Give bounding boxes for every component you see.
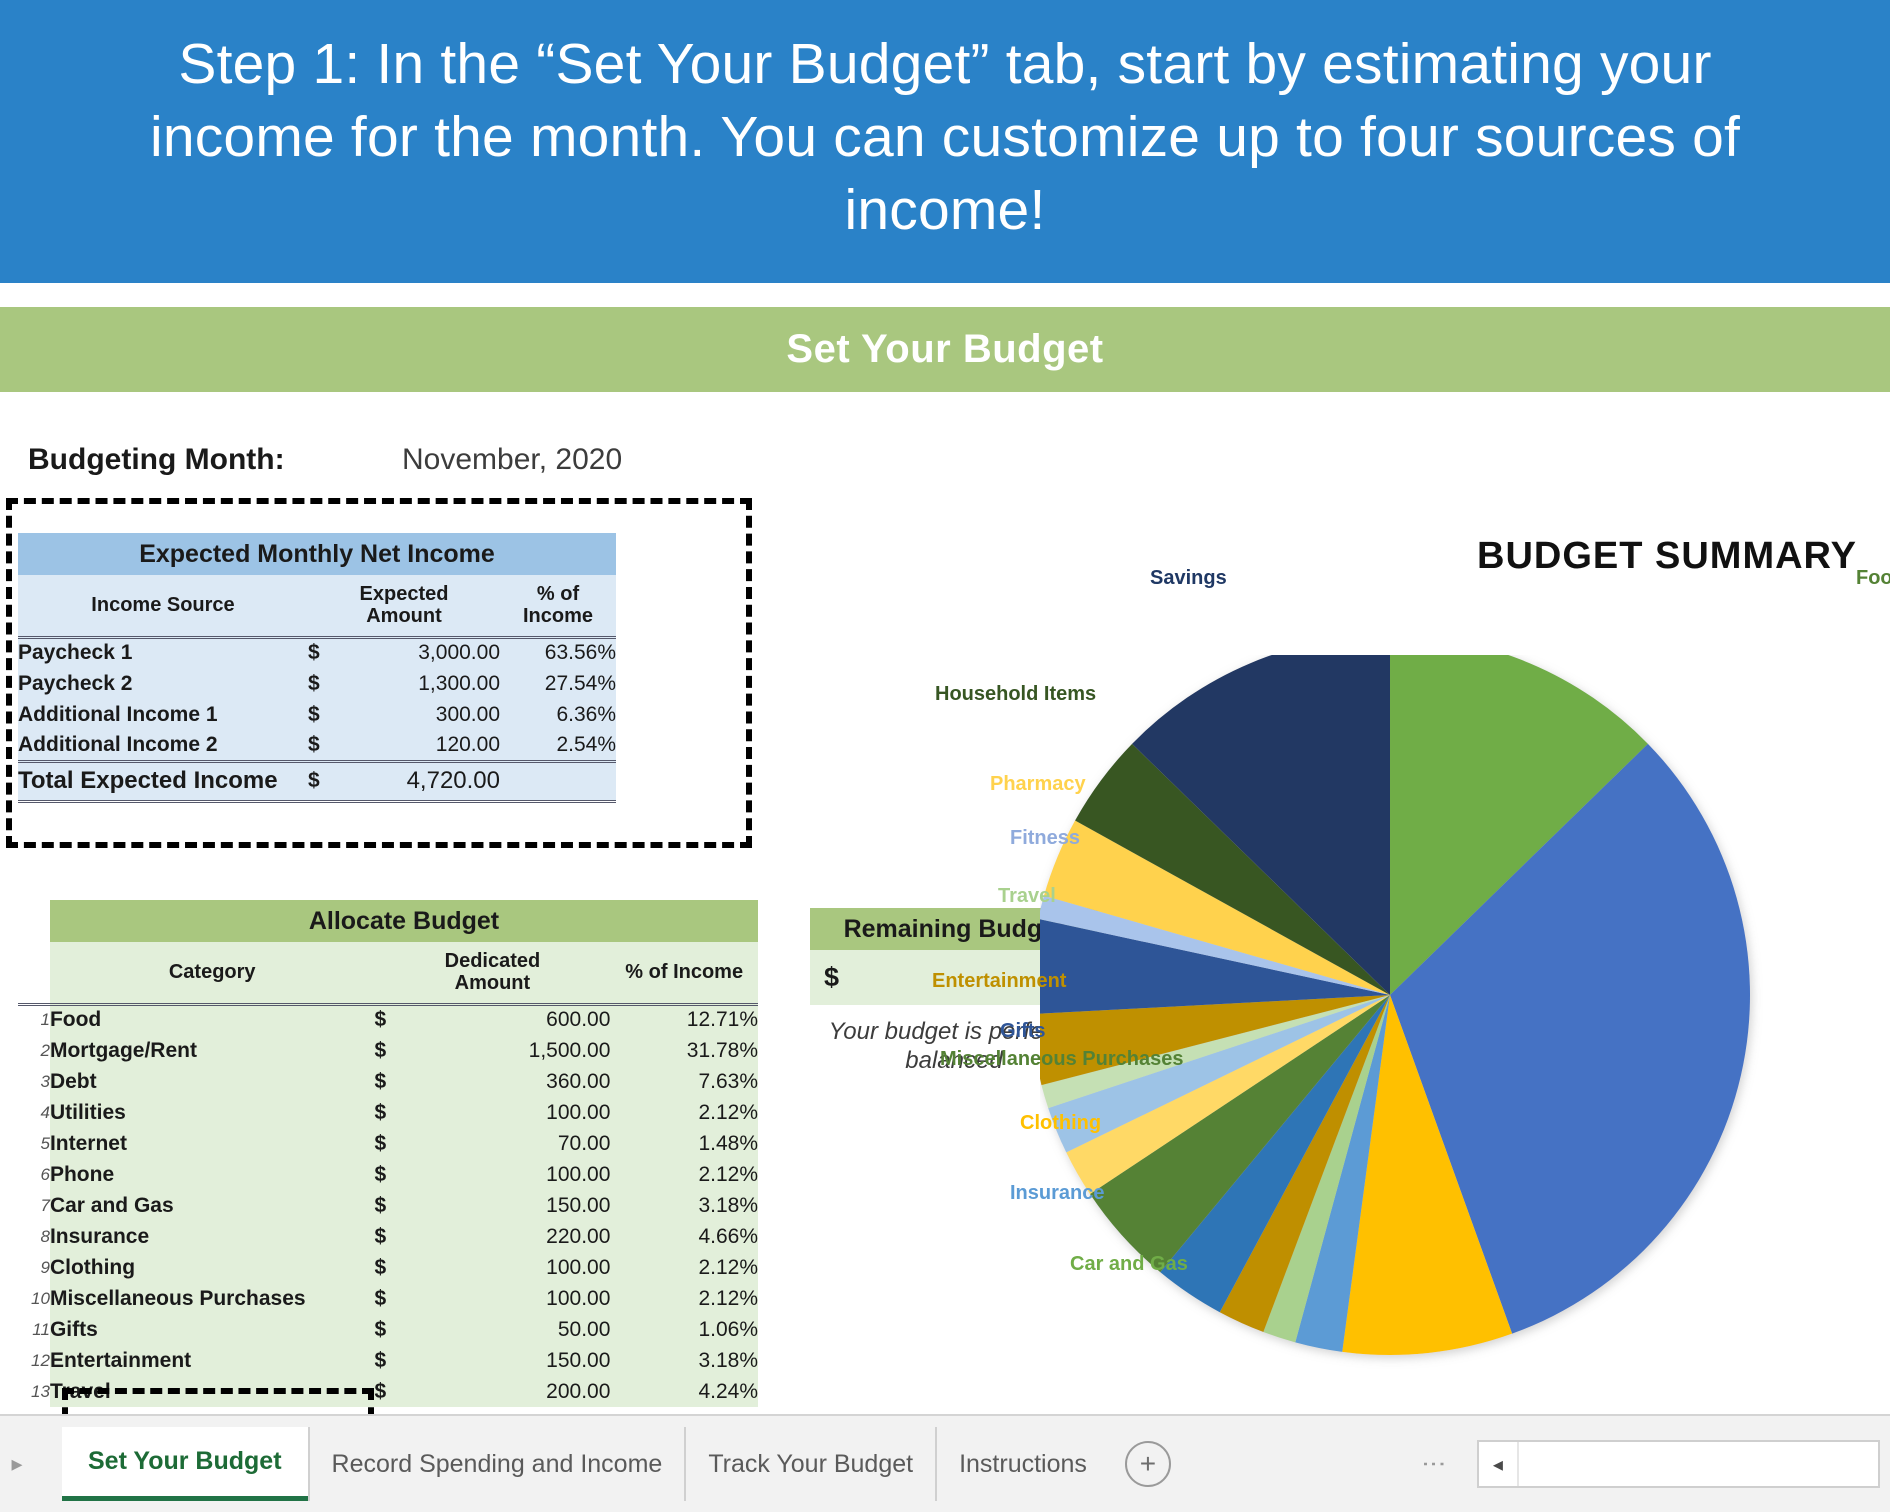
alloc-row-currency: $ — [374, 1035, 426, 1066]
income-table-title-row: Expected Monthly Net Income — [18, 533, 616, 575]
alloc-row-pct: 3.18% — [610, 1190, 758, 1221]
sheet-title-bar: Set Your Budget — [0, 307, 1890, 392]
income-row-amount[interactable]: 300.00 — [350, 699, 500, 730]
alloc-row-currency: $ — [374, 1097, 426, 1128]
row-number: 11 — [18, 1314, 50, 1345]
income-row-currency: $ — [308, 637, 350, 668]
row-number: 8 — [18, 1221, 50, 1252]
allocate-budget-table: Allocate Budget Category Dedicated Amoun… — [18, 900, 758, 1407]
pie-label-car-and-gas: Car and Gas — [1070, 1253, 1188, 1276]
income-row-amount[interactable]: 1,300.00 — [350, 668, 500, 699]
alloc-row-category[interactable]: Food — [50, 1004, 374, 1035]
scroll-left-icon[interactable]: ◂ — [1479, 1442, 1519, 1486]
alloc-row-amount[interactable]: 150.00 — [426, 1345, 610, 1376]
alloc-row-category[interactable]: Miscellaneous Purchases — [50, 1283, 374, 1314]
table-row[interactable]: 10 Miscellaneous Purchases $ 100.00 2.12… — [18, 1283, 758, 1314]
income-total-label: Total Expected Income — [18, 761, 308, 801]
income-row-name: Paycheck 2 — [18, 668, 308, 699]
income-row-amount[interactable]: 120.00 — [350, 730, 500, 761]
alloc-row-amount[interactable]: 360.00 — [426, 1066, 610, 1097]
alloc-row-pct: 12.71% — [610, 1004, 758, 1035]
row-number: 6 — [18, 1159, 50, 1190]
pie-label-insurance: Insurance — [1010, 1182, 1104, 1205]
alloc-rownum-spacer — [18, 942, 50, 1004]
alloc-row-amount[interactable]: 50.00 — [426, 1314, 610, 1345]
income-row-pct: 2.54% — [500, 730, 616, 761]
alloc-row-pct: 2.12% — [610, 1283, 758, 1314]
income-header-pct: % of Income — [500, 575, 616, 637]
pie-label-savings: Savings — [1150, 567, 1227, 590]
alloc-table-header-row: Category Dedicated Amount % of Income — [18, 942, 758, 1004]
sheet-tab-set-your-budget[interactable]: Set Your Budget — [62, 1427, 308, 1501]
alloc-row-currency: $ — [374, 1376, 426, 1407]
pie-label-miscellaneous-purchases: Miscellaneous Purchases — [940, 1048, 1100, 1071]
alloc-row-pct: 1.48% — [610, 1128, 758, 1159]
alloc-row-pct: 2.12% — [610, 1097, 758, 1128]
sheet-tab-instructions[interactable]: Instructions — [935, 1427, 1109, 1501]
row-number: 3 — [18, 1066, 50, 1097]
alloc-rownum-spacer — [18, 900, 50, 942]
alloc-row-amount[interactable]: 200.00 — [426, 1376, 610, 1407]
pie-label-pharmacy: Pharmacy — [990, 773, 1086, 796]
income-row-name: Additional Income 1 — [18, 699, 308, 730]
table-row[interactable]: 7 Car and Gas $ 150.00 3.18% — [18, 1190, 758, 1221]
sheet-tab-bar: ▸ Set Your Budget Record Spending and In… — [0, 1414, 1890, 1512]
table-row[interactable]: 13 Travel $ 200.00 4.24% — [18, 1376, 758, 1407]
alloc-row-currency: $ — [374, 1283, 426, 1314]
tab-scroll-right-icon[interactable]: ▸ — [0, 1451, 34, 1477]
alloc-row-amount[interactable]: 100.00 — [426, 1283, 610, 1314]
budget-summary-title: BUDGET SUMMARY — [1477, 535, 1857, 578]
table-row[interactable]: 11 Gifts $ 50.00 1.06% — [18, 1314, 758, 1345]
table-row[interactable]: 3 Debt $ 360.00 7.63% — [18, 1066, 758, 1097]
alloc-row-amount[interactable]: 100.00 — [426, 1252, 610, 1283]
alloc-table-title-row: Allocate Budget — [18, 900, 758, 942]
alloc-row-pct: 4.24% — [610, 1376, 758, 1407]
alloc-row-pct: 7.63% — [610, 1066, 758, 1097]
income-header-amount-line1: Expected — [360, 583, 449, 605]
income-total-pct — [500, 761, 616, 801]
remaining-budget-currency: $ — [824, 962, 839, 993]
alloc-header-amount-line1: Dedicated — [445, 950, 541, 972]
alloc-row-currency: $ — [374, 1190, 426, 1221]
alloc-row-category[interactable]: Debt — [50, 1066, 374, 1097]
table-row[interactable]: 5 Internet $ 70.00 1.48% — [18, 1128, 758, 1159]
alloc-row-pct: 2.12% — [610, 1159, 758, 1190]
alloc-row-amount[interactable]: 100.00 — [426, 1097, 610, 1128]
alloc-row-amount[interactable]: 220.00 — [426, 1221, 610, 1252]
row-number: 12 — [18, 1345, 50, 1376]
row-number: 4 — [18, 1097, 50, 1128]
alloc-row-category[interactable]: Car and Gas — [50, 1190, 374, 1221]
alloc-row-amount[interactable]: 100.00 — [426, 1159, 610, 1190]
income-total-currency: $ — [308, 761, 350, 801]
alloc-row-pct: 4.66% — [610, 1221, 758, 1252]
alloc-header-pct: % of Income — [610, 942, 758, 1004]
alloc-row-amount[interactable]: 600.00 — [426, 1004, 610, 1035]
table-row[interactable]: 9 Clothing $ 100.00 2.12% — [18, 1252, 758, 1283]
horizontal-scrollbar[interactable]: ◂ — [1477, 1440, 1880, 1488]
alloc-row-amount[interactable]: 70.00 — [426, 1128, 610, 1159]
sheet-tab-record-spending-and-income[interactable]: Record Spending and Income — [308, 1427, 685, 1501]
alloc-row-pct: 3.18% — [610, 1345, 758, 1376]
table-row[interactable]: Additional Income 1 $ 300.00 6.36% — [18, 699, 616, 730]
pie-label-fitness: Fitness — [1010, 827, 1080, 850]
income-header-source: Income Source — [18, 575, 308, 637]
row-number: 13 — [18, 1376, 50, 1407]
table-row[interactable]: 12 Entertainment $ 150.00 3.18% — [18, 1345, 758, 1376]
alloc-row-category[interactable]: Phone — [50, 1159, 374, 1190]
table-row[interactable]: 2 Mortgage/Rent $ 1,500.00 31.78% — [18, 1035, 758, 1066]
alloc-row-category[interactable]: Clothing — [50, 1252, 374, 1283]
budgeting-month-value[interactable]: November, 2020 — [402, 443, 622, 477]
row-number: 7 — [18, 1190, 50, 1221]
alloc-table-title: Allocate Budget — [50, 900, 758, 942]
alloc-row-pct: 2.12% — [610, 1252, 758, 1283]
budgeting-month-label: Budgeting Month: — [28, 443, 285, 477]
table-row[interactable]: Additional Income 2 $ 120.00 2.54% — [18, 730, 616, 761]
table-row[interactable]: 4 Utilities $ 100.00 2.12% — [18, 1097, 758, 1128]
alloc-row-category[interactable]: Mortgage/Rent — [50, 1035, 374, 1066]
pie-slice-group — [1040, 655, 1750, 1355]
income-table-title: Expected Monthly Net Income — [18, 533, 616, 575]
budget-summary-pie-chart: Savings Household Items Pharmacy Fitness… — [1040, 655, 1890, 1415]
pie-label-household-items: Household Items — [935, 683, 1096, 706]
income-row-currency: $ — [308, 668, 350, 699]
alloc-row-amount[interactable]: 150.00 — [426, 1190, 610, 1221]
alloc-row-currency: $ — [374, 1066, 426, 1097]
add-sheet-icon[interactable]: + — [1125, 1441, 1171, 1487]
screenshot-root: Step 1: In the “Set Your Budget” tab, st… — [0, 0, 1890, 1512]
table-row[interactable]: Paycheck 1 $ 3,000.00 63.56% — [18, 637, 616, 668]
alloc-header-amount-line2: Amount — [455, 972, 531, 994]
alloc-row-currency: $ — [374, 1221, 426, 1252]
alloc-row-pct: 1.06% — [610, 1314, 758, 1345]
table-row[interactable]: 1 Food $ 600.00 12.71% — [18, 1004, 758, 1035]
pie-label-gifts: Gifts — [1000, 1020, 1046, 1043]
alloc-row-pct: 31.78% — [610, 1035, 758, 1066]
alloc-row-currency: $ — [374, 1159, 426, 1190]
alloc-row-currency: $ — [374, 1128, 426, 1159]
table-row[interactable]: Paycheck 2 $ 1,300.00 27.54% — [18, 668, 616, 699]
income-table-header-row: Income Source Expected Amount % of Incom… — [18, 575, 616, 637]
income-row-currency: $ — [308, 699, 350, 730]
alloc-row-category[interactable]: Internet — [50, 1128, 374, 1159]
income-row-pct: 27.54% — [500, 668, 616, 699]
alloc-row-amount[interactable]: 1,500.00 — [426, 1035, 610, 1066]
alloc-row-currency: $ — [374, 1345, 426, 1376]
row-number: 1 — [18, 1004, 50, 1035]
alloc-row-category[interactable]: Gifts — [50, 1314, 374, 1345]
alloc-row-category[interactable]: Entertainment — [50, 1345, 374, 1376]
row-number: 9 — [18, 1252, 50, 1283]
instruction-banner: Step 1: In the “Set Your Budget” tab, st… — [0, 0, 1890, 283]
income-row-pct: 63.56% — [500, 637, 616, 668]
expected-income-table: Expected Monthly Net Income Income Sourc… — [18, 533, 616, 803]
income-row-amount[interactable]: 3,000.00 — [350, 637, 500, 668]
row-number: 2 — [18, 1035, 50, 1066]
pie-svg — [1040, 655, 1890, 1415]
row-number: 5 — [18, 1128, 50, 1159]
row-number: 10 — [18, 1283, 50, 1314]
income-row-name: Additional Income 2 — [18, 730, 308, 761]
table-row[interactable]: 8 Insurance $ 220.00 4.66% — [18, 1221, 758, 1252]
income-row-pct: 6.36% — [500, 699, 616, 730]
alloc-header-category: Category — [50, 942, 374, 1004]
alloc-row-currency: $ — [374, 1004, 426, 1035]
pie-label-clothing: Clothing — [1020, 1112, 1101, 1135]
pie-label-entertainment: Entertainment — [932, 970, 1066, 993]
income-total-amount: 4,720.00 — [350, 761, 500, 801]
pie-label-food: Food — [1856, 567, 1890, 590]
income-row-name: Paycheck 1 — [18, 637, 308, 668]
sheet-tab-track-your-budget[interactable]: Track Your Budget — [684, 1427, 935, 1501]
alloc-row-category[interactable]: Travel — [50, 1376, 374, 1407]
alloc-header-amount: Dedicated Amount — [374, 942, 610, 1004]
sheet-title: Set Your Budget — [786, 327, 1103, 372]
tab-split-handle-icon[interactable]: ⋮ — [1421, 1452, 1445, 1476]
income-header-amount: Expected Amount — [308, 575, 500, 637]
instruction-text: Step 1: In the “Set Your Budget” tab, st… — [90, 28, 1800, 247]
table-row[interactable]: 6 Phone $ 100.00 2.12% — [18, 1159, 758, 1190]
income-total-row: Total Expected Income $ 4,720.00 — [18, 761, 616, 801]
income-row-currency: $ — [308, 730, 350, 761]
alloc-row-category[interactable]: Utilities — [50, 1097, 374, 1128]
income-header-amount-line2: Amount — [366, 605, 442, 627]
alloc-row-category[interactable]: Insurance — [50, 1221, 374, 1252]
alloc-row-currency: $ — [374, 1314, 426, 1345]
pie-label-travel: Travel — [998, 885, 1056, 908]
alloc-row-currency: $ — [374, 1252, 426, 1283]
